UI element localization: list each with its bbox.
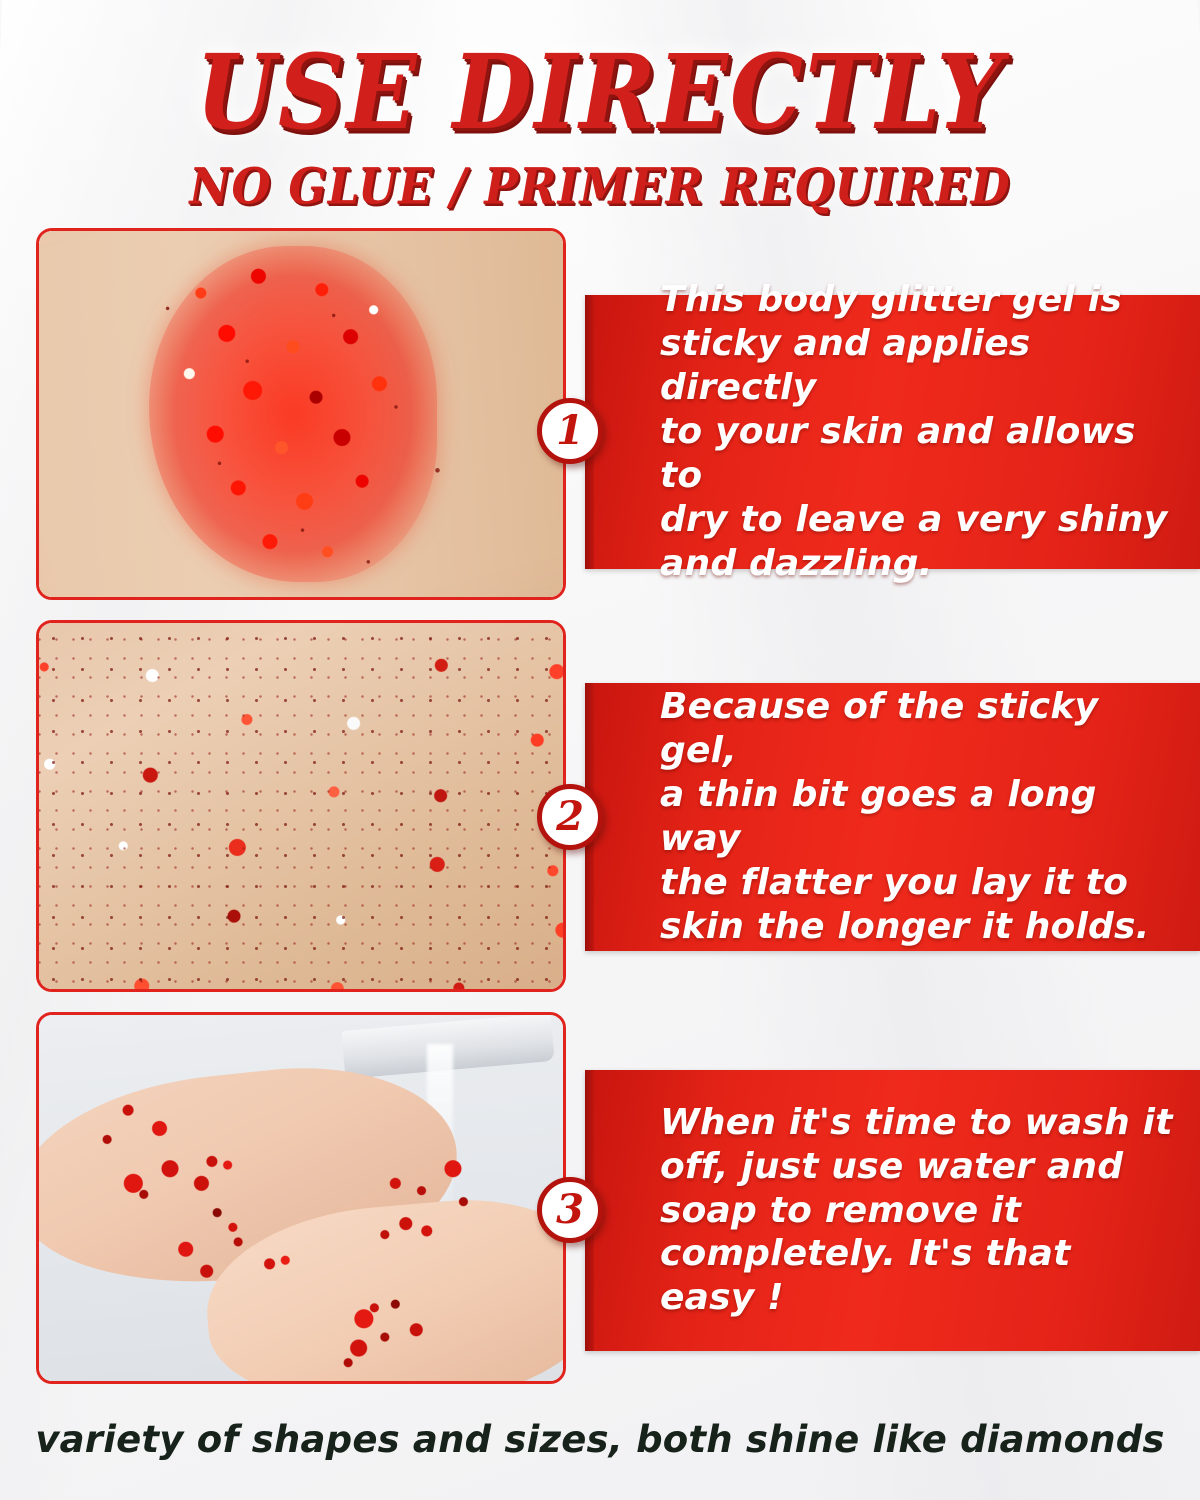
glitter-arm-image xyxy=(39,231,563,597)
step-2-text: Because of the sticky gel, a thin bit go… xyxy=(585,685,1200,948)
header: USE DIRECTLY NO GLUE / PRIMER REQUIRED xyxy=(0,0,1200,209)
page-subtitle: NO GLUE / PRIMER REQUIRED xyxy=(0,162,1200,212)
step-1-badge: 1 xyxy=(537,398,603,464)
step-3-photo xyxy=(36,1012,566,1384)
step-1-banner: This body glitter gel is sticky and appl… xyxy=(585,295,1200,569)
glitter-specks xyxy=(39,623,563,989)
footer-caption: variety of shapes and sizes, both shine … xyxy=(0,1418,1200,1461)
step-1-photo xyxy=(36,228,566,600)
step-2-photo xyxy=(36,620,566,992)
step-2-banner: Because of the sticky gel, a thin bit go… xyxy=(585,683,1200,951)
step-2-number: 2 xyxy=(556,797,584,837)
step-1-text: This body glitter gel is sticky and appl… xyxy=(585,278,1200,585)
washing-hands-image xyxy=(39,1015,563,1381)
step-3-banner: When it's time to wash it off, just use … xyxy=(585,1070,1200,1351)
page-title: USE DIRECTLY xyxy=(0,40,1200,143)
step-1-number: 1 xyxy=(556,411,584,451)
glitter-specks xyxy=(133,238,479,589)
step-3-badge: 3 xyxy=(537,1177,603,1243)
step-3-text: When it's time to wash it off, just use … xyxy=(585,1101,1200,1321)
step-3-number: 3 xyxy=(556,1190,584,1230)
step-2-badge: 2 xyxy=(537,784,603,850)
scattered-glitter-arm-image xyxy=(39,623,563,989)
glitter-dots xyxy=(39,1015,563,1381)
